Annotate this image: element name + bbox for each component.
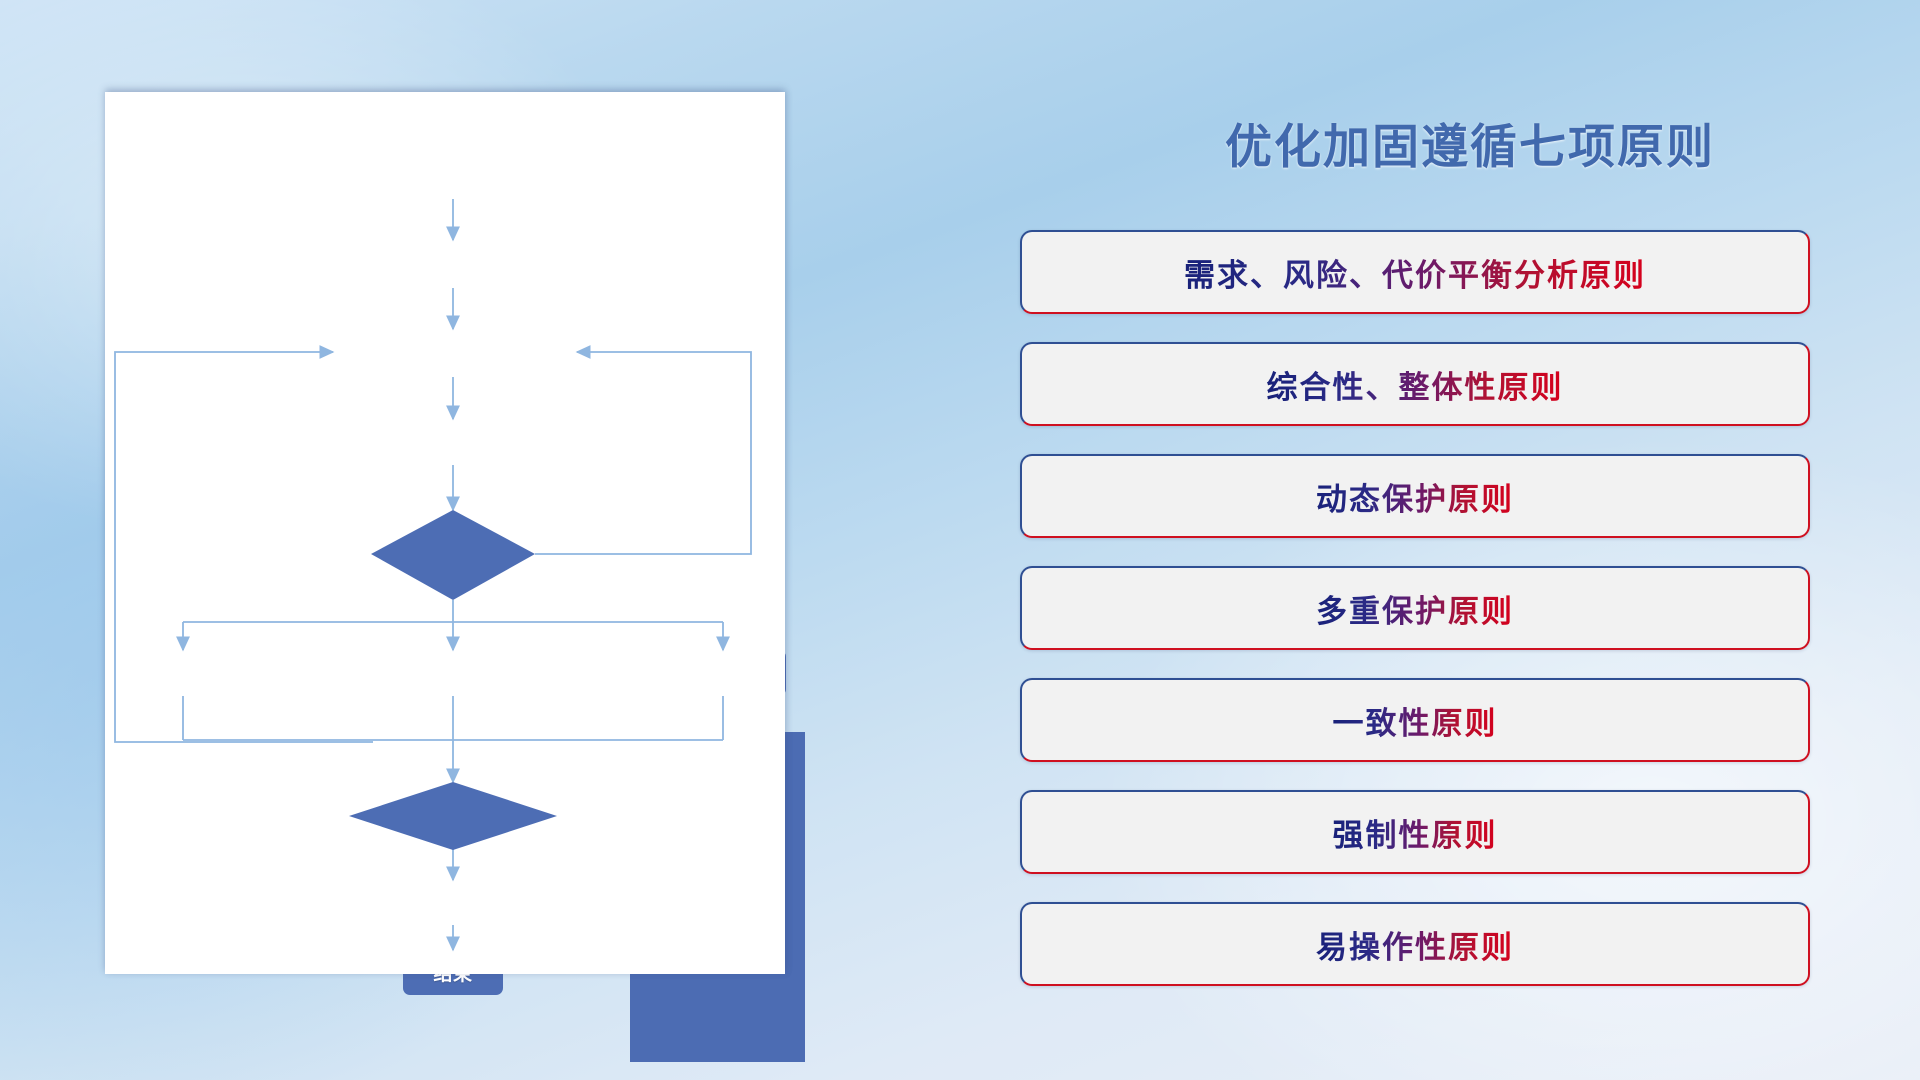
flowchart-panel: 开始 风险评估/第三方信息导入 制定优化/加固方案 提交申请 业主方确认 加固/… <box>105 92 785 962</box>
principle-card[interactable]: 需求、风险、代价平衡分析原则 <box>1020 230 1810 314</box>
flowchart-connectors <box>105 92 785 974</box>
principle-card[interactable]: 强制性原则 <box>1020 790 1810 874</box>
principle-card[interactable]: 动态保护原则 <box>1020 454 1810 538</box>
decision-check-confirm-shape <box>349 782 557 850</box>
principle-label: 动态保护原则 <box>1316 474 1514 519</box>
principle-card[interactable]: 多重保护原则 <box>1020 566 1810 650</box>
principle-label: 强制性原则 <box>1333 810 1498 855</box>
principles-panel: 优化加固遵循七项原则 需求、风险、代价平衡分析原则 综合性、整体性原则 动态保护… <box>1020 0 1920 1080</box>
decision-owner-confirm-shape <box>371 510 535 600</box>
principle-label: 一致性原则 <box>1333 698 1498 743</box>
principle-card[interactable]: 易操作性原则 <box>1020 902 1810 986</box>
principle-label: 需求、风险、代价平衡分析原则 <box>1184 250 1646 295</box>
principles-list: 需求、风险、代价平衡分析原则 综合性、整体性原则 动态保护原则 多重保护原则 一… <box>1020 230 1920 1014</box>
page-title: 优化加固遵循七项原则 <box>1020 108 1920 177</box>
principle-card[interactable]: 综合性、整体性原则 <box>1020 342 1810 426</box>
principle-label: 易操作性原则 <box>1316 922 1514 967</box>
principle-card[interactable]: 一致性原则 <box>1020 678 1810 762</box>
principle-label: 综合性、整体性原则 <box>1267 362 1564 407</box>
principle-label: 多重保护原则 <box>1316 586 1514 631</box>
